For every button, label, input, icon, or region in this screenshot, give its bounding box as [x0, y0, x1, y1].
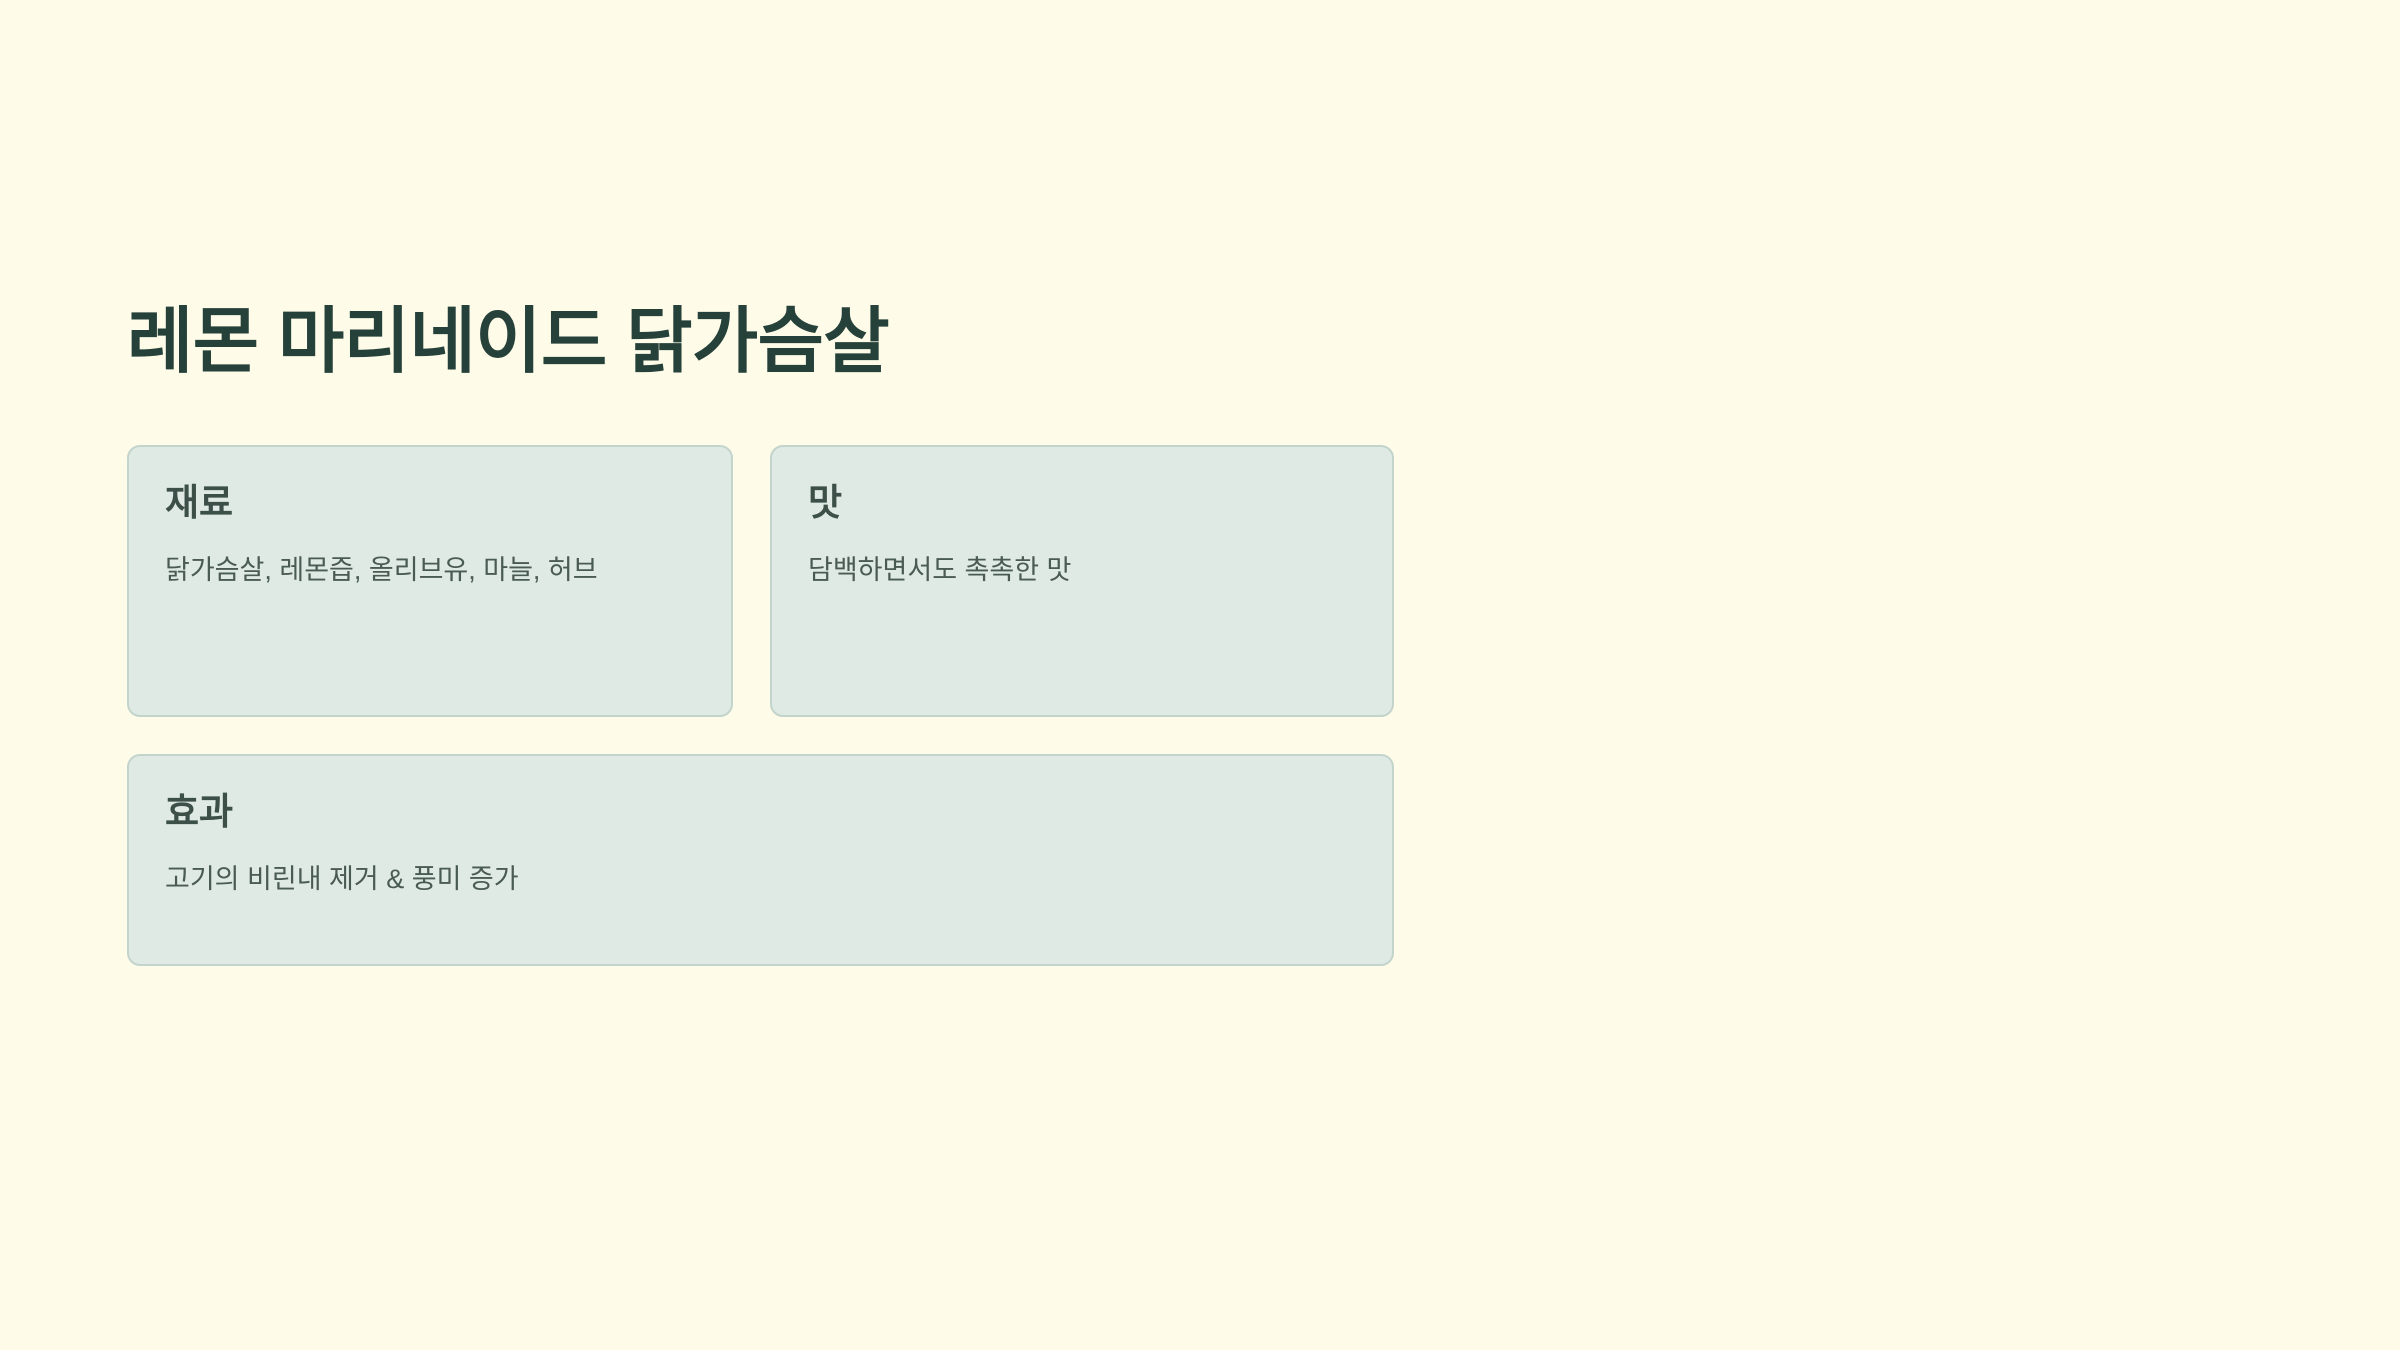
page-title: 레몬 마리네이드 닭가슴살 [127, 300, 1394, 385]
info-card-body: 고기의 비린내 제거 & 풍미 증가 [165, 859, 1356, 901]
info-card-heading: 맛 [808, 483, 1356, 524]
info-card-body: 닭가슴살, 레몬즙, 올리브유, 마늘, 허브 [165, 550, 695, 592]
recipe-page: 레몬 마리네이드 닭가슴살 재료 닭가슴살, 레몬즙, 올리브유, 마늘, 허브… [0, 0, 2400, 1350]
info-card-body: 담백하면서도 촉촉한 맛 [808, 550, 1356, 592]
info-card-grid: 재료 닭가슴살, 레몬즙, 올리브유, 마늘, 허브 맛 담백하면서도 촉촉한 … [127, 445, 1394, 966]
content-container: 레몬 마리네이드 닭가슴살 재료 닭가슴살, 레몬즙, 올리브유, 마늘, 허브… [127, 300, 1394, 966]
info-card-ingredients: 재료 닭가슴살, 레몬즙, 올리브유, 마늘, 허브 [127, 445, 733, 717]
info-card-effect: 효과 고기의 비린내 제거 & 풍미 증가 [127, 754, 1394, 966]
info-card-taste: 맛 담백하면서도 촉촉한 맛 [770, 445, 1394, 717]
info-card-heading: 효과 [165, 792, 1356, 833]
info-card-heading: 재료 [165, 483, 695, 524]
